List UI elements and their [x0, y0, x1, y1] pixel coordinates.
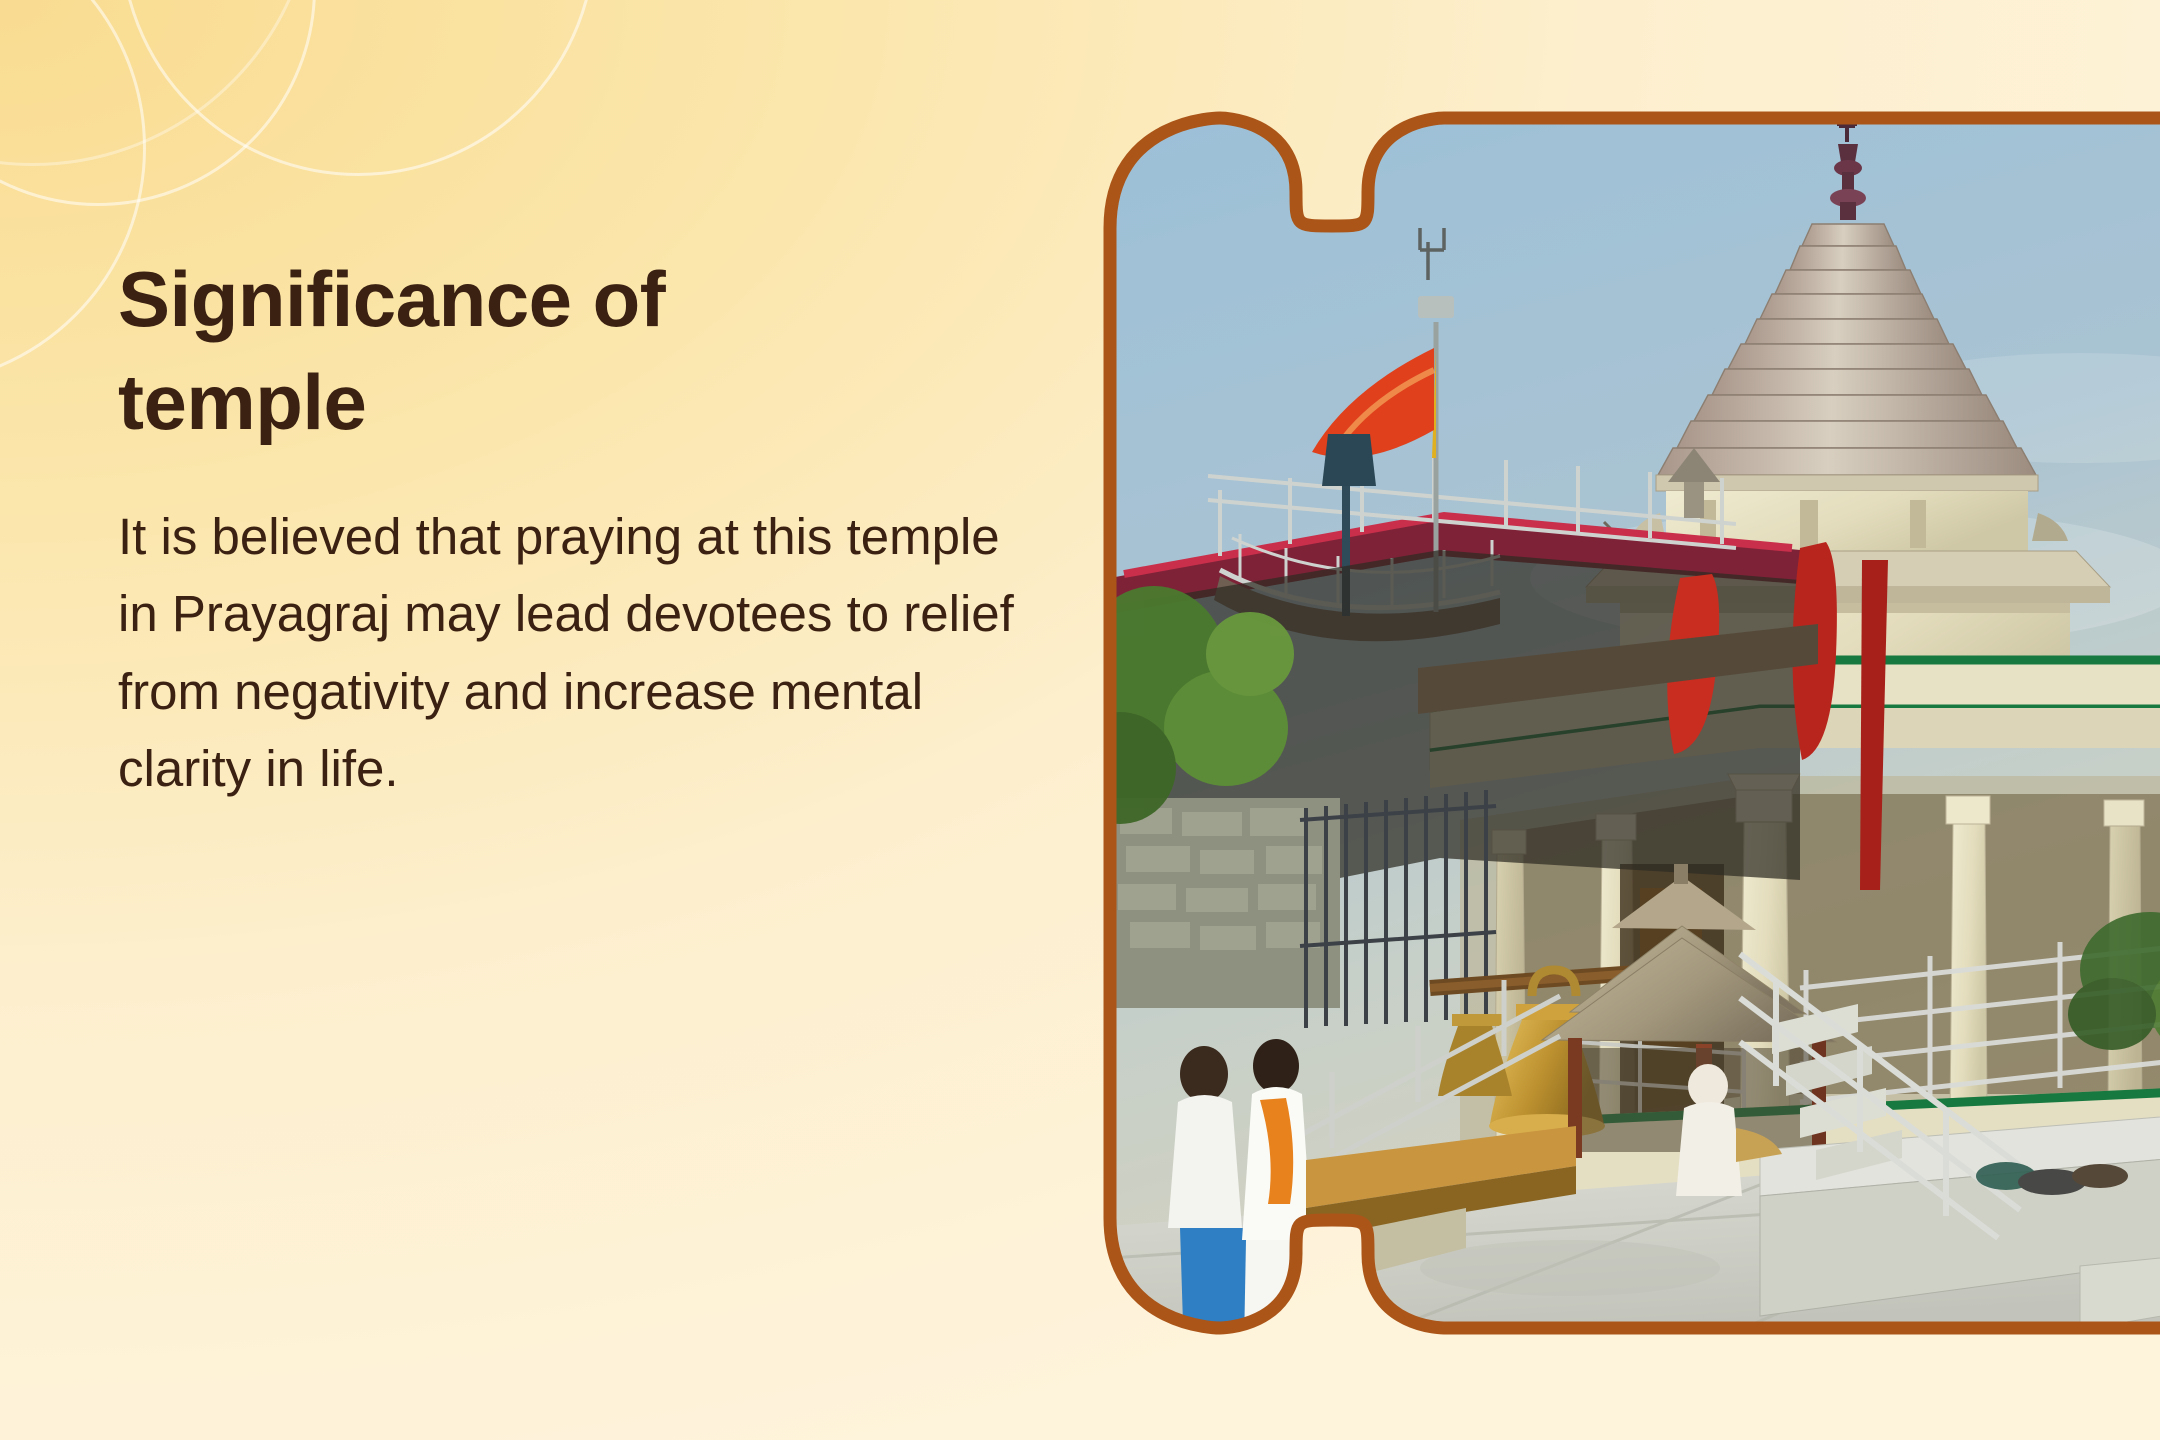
photo-content	[1100, 108, 2160, 1338]
temple-photo	[1100, 108, 2160, 1338]
page-title: Significance of temple	[118, 248, 818, 454]
body-paragraph: It is believed that praying at this temp…	[118, 498, 1028, 808]
text-column: Significance of temple It is believed th…	[118, 248, 1038, 808]
slide-canvas: Significance of temple It is believed th…	[0, 0, 2160, 1440]
temple-photo-frame	[1100, 108, 2160, 1338]
